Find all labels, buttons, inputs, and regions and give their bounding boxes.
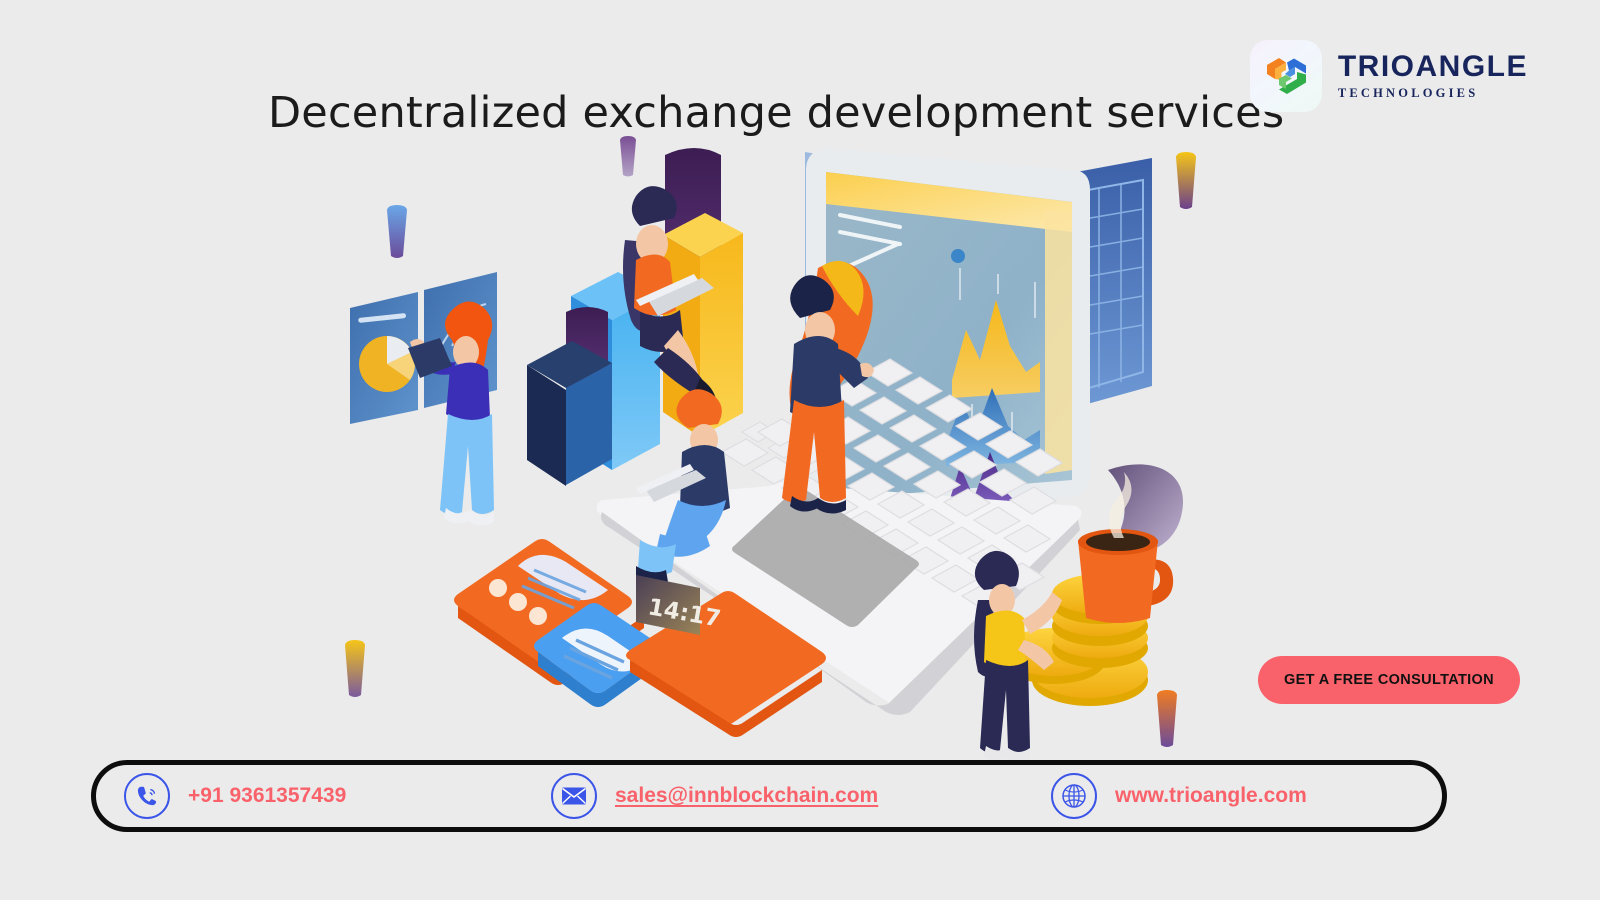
contact-item-website[interactable]: www.trioangle.com: [1051, 773, 1307, 819]
email-address: sales@innblockchain.com: [615, 784, 878, 808]
brand-name: TRIOANGLE: [1338, 51, 1528, 83]
woman-at-whiteboard: [408, 301, 494, 525]
email-icon: [551, 773, 597, 819]
trioangle-logo-icon: [1250, 40, 1322, 112]
contact-item-email[interactable]: sales@innblockchain.com: [551, 773, 878, 819]
website-url: www.trioangle.com: [1115, 784, 1307, 808]
contact-item-phone[interactable]: +91 9361357439: [124, 773, 346, 819]
promo-banner: 14:17: [0, 0, 1600, 900]
contact-bar: +91 9361357439 sales@innblockchain.com: [91, 760, 1447, 832]
get-free-consultation-button[interactable]: GET A FREE CONSULTATION: [1258, 656, 1520, 704]
globe-icon: [1051, 773, 1097, 819]
page-title: Decentralized exchange development servi…: [268, 88, 1284, 138]
brand-tagline: TECHNOLOGIES: [1338, 86, 1479, 101]
phone-number: +91 9361357439: [188, 784, 346, 808]
phone-icon: [124, 773, 170, 819]
brand-logo[interactable]: TRIOANGLE TECHNOLOGIES: [1250, 40, 1528, 112]
